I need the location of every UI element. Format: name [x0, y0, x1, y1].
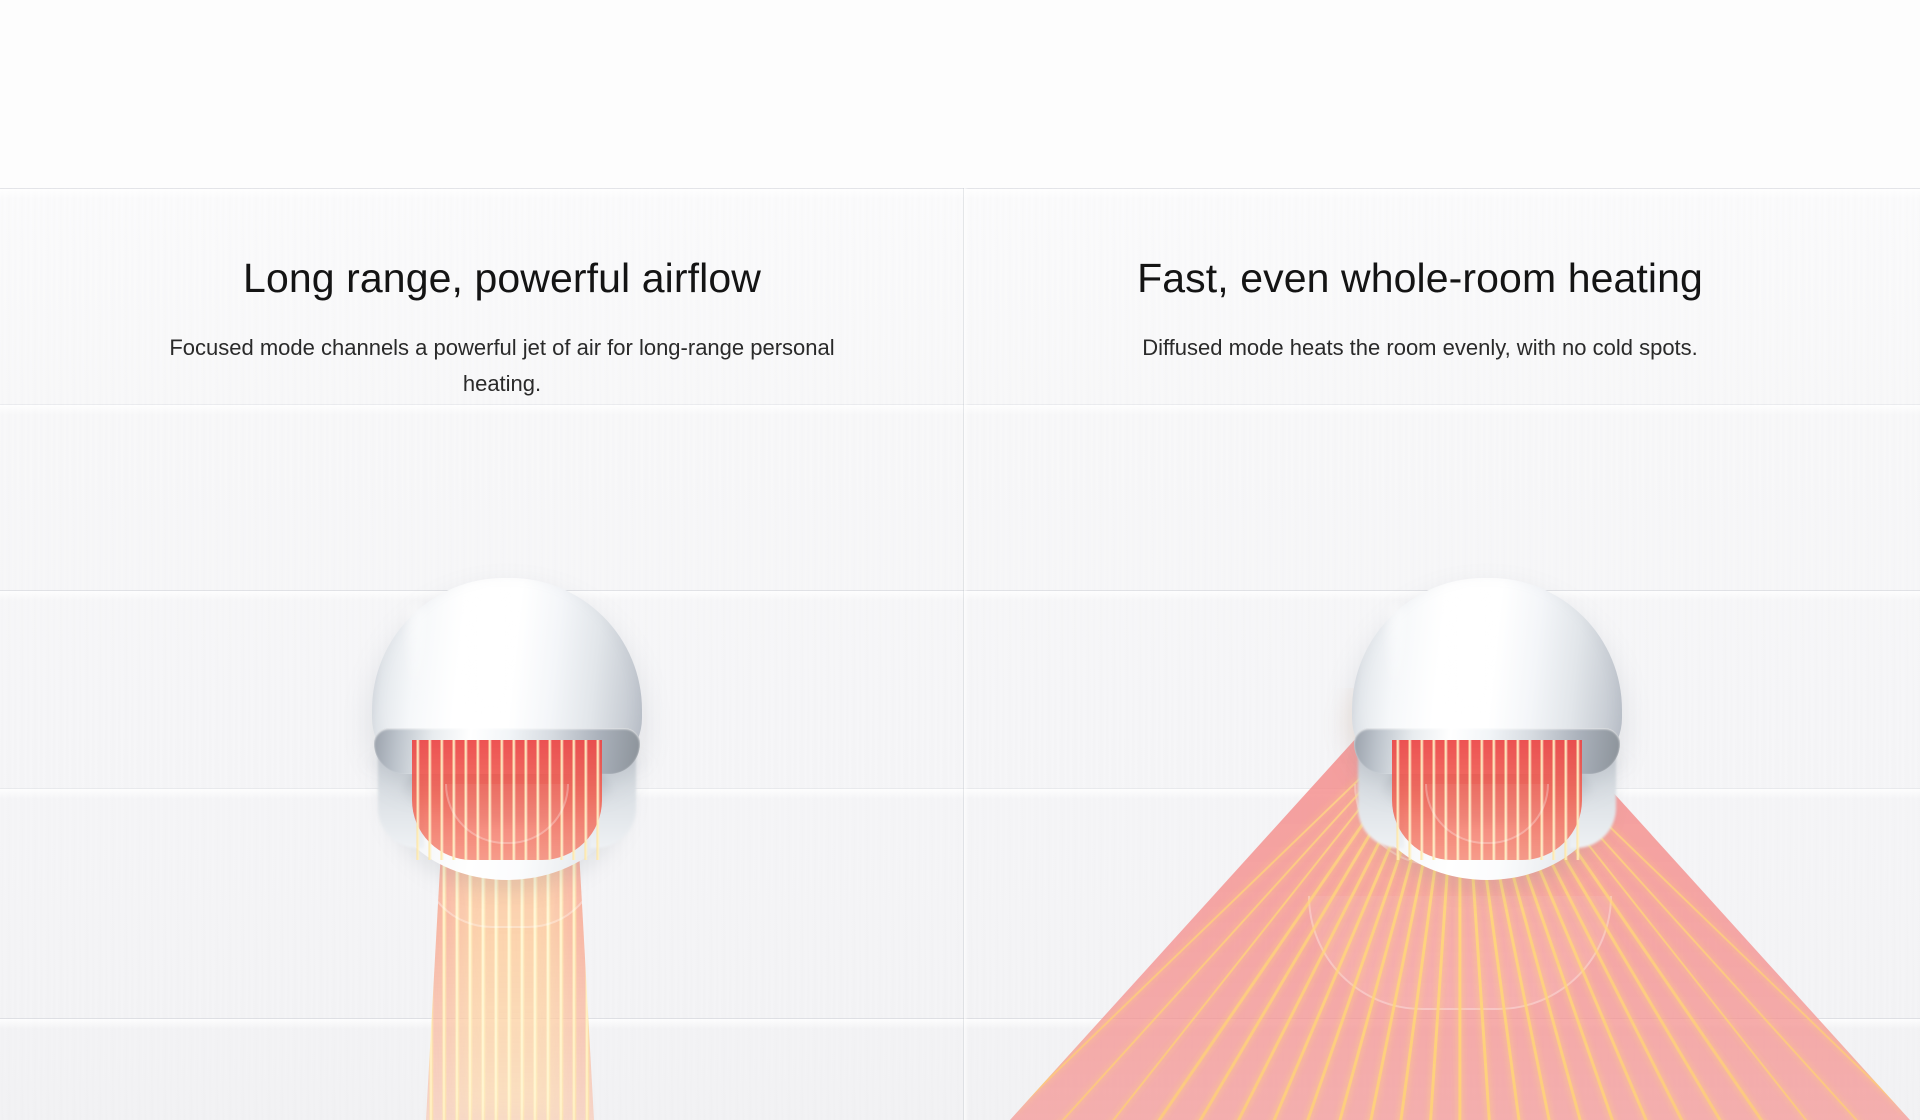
plank-highlight [0, 189, 1920, 199]
column-focused-body: Focused mode channels a powerful jet of … [162, 330, 842, 401]
device-specular-highlight [1444, 586, 1498, 716]
device-specular-highlight [464, 586, 518, 716]
column-diffused-heading: Fast, even whole-room heating [960, 255, 1880, 302]
plank-highlight [0, 591, 1920, 601]
device-edge-highlight [1388, 604, 1404, 700]
heater-outlet-glow-diffused [1392, 740, 1582, 860]
plank-highlight [0, 1019, 1920, 1029]
column-diffused: Fast, even whole-room heating Diffused m… [960, 255, 1880, 366]
column-focused: Long range, powerful airflow Focused mod… [42, 255, 962, 401]
plank-highlight [0, 405, 1920, 415]
jet-focus-control-page: Jet Focus control Long range, powerful a… [0, 0, 1920, 1120]
title-band [0, 0, 1920, 188]
plank-highlight [0, 789, 1920, 799]
device-edge-highlight [408, 604, 424, 700]
column-focused-heading: Long range, powerful airflow [42, 255, 962, 302]
column-diffused-body: Diffused mode heats the room evenly, wit… [1080, 330, 1760, 366]
heater-outlet-glow-focused [412, 740, 602, 860]
